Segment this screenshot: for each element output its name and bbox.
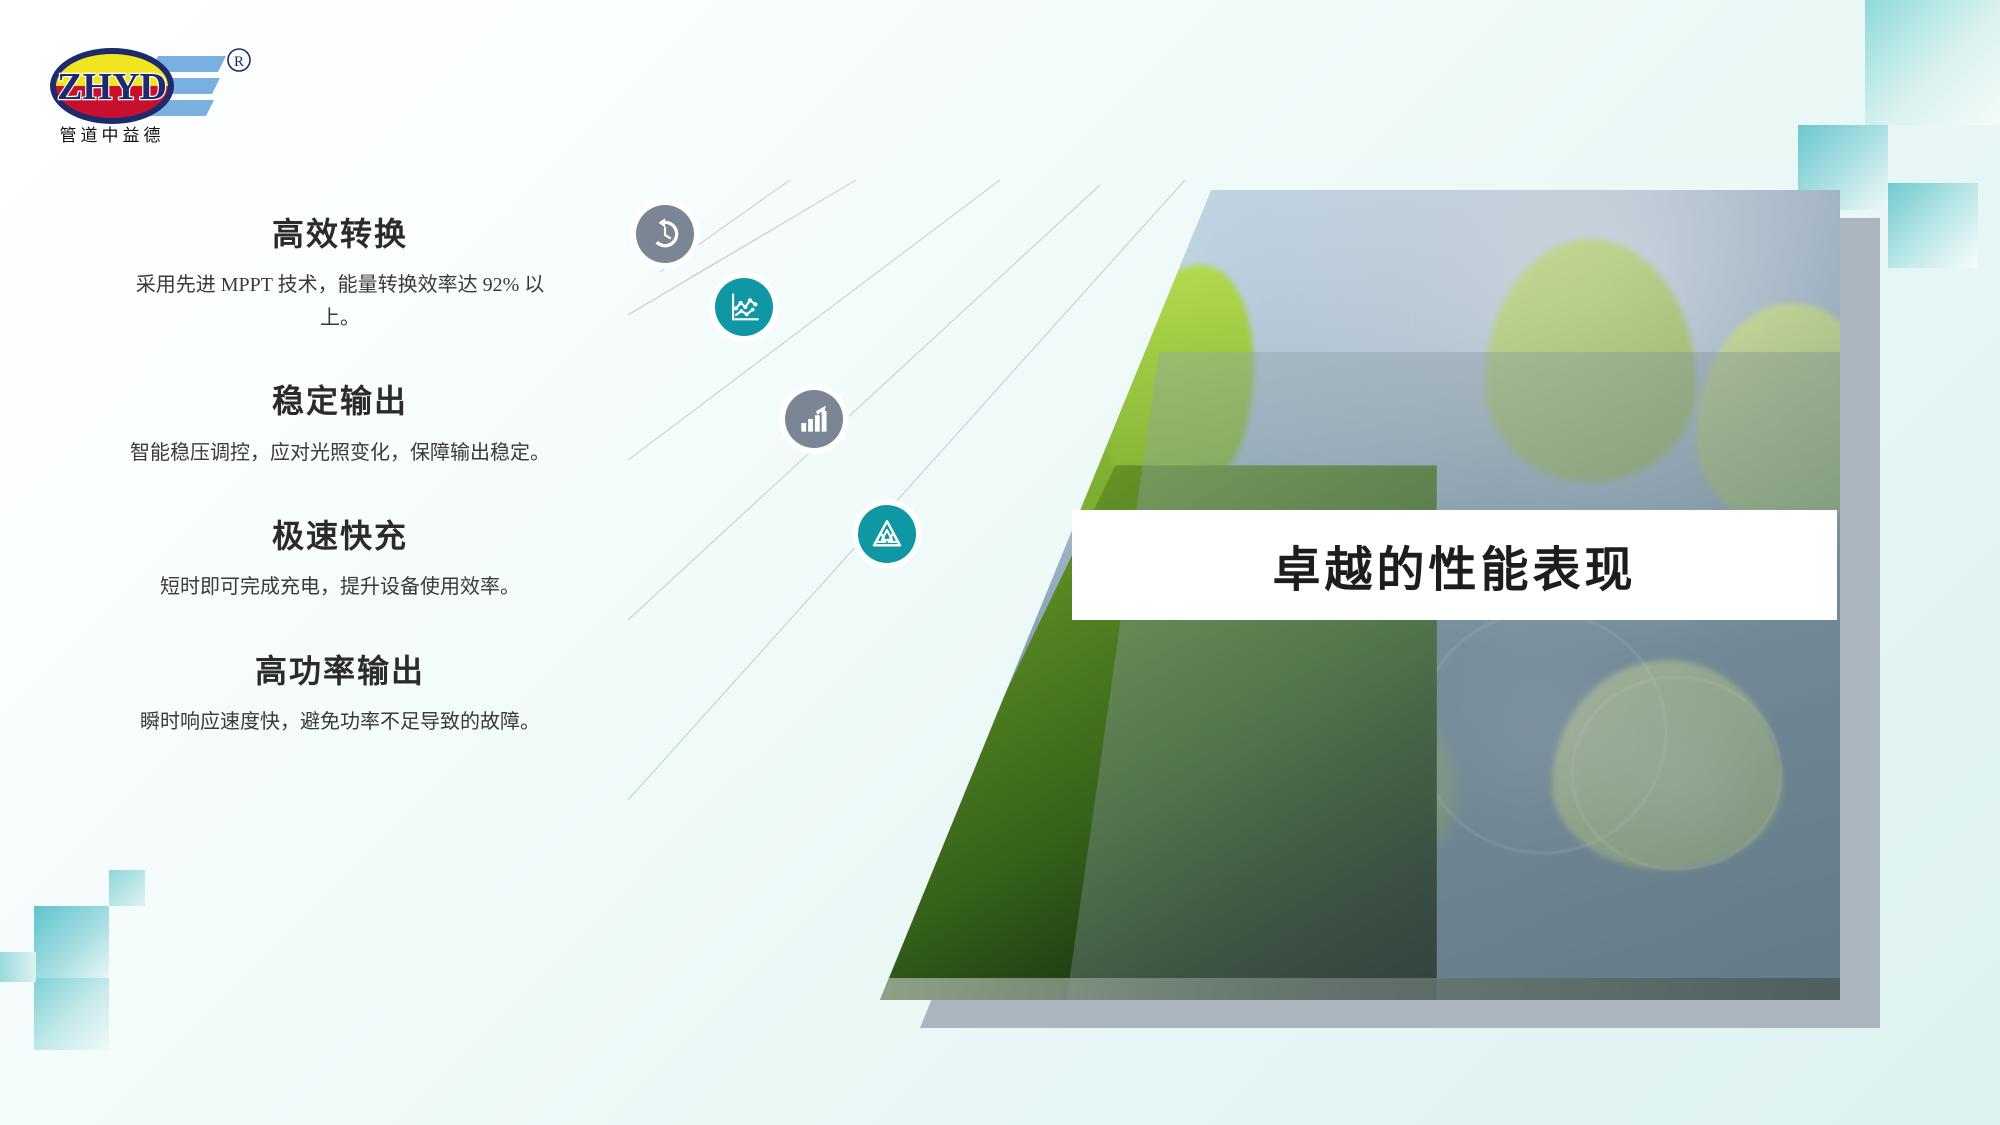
feature-description: 采用先进 MPPT 技术，能量转换效率达 92% 以上。 (120, 269, 560, 334)
feature-item: 高效转换 采用先进 MPPT 技术，能量转换效率达 92% 以上。 (120, 215, 560, 334)
deco-square-bottom-left-4 (109, 870, 145, 906)
badge-clock-rewind (636, 205, 694, 263)
feature-description: 短时即可完成充电，提升设备使用效率。 (120, 571, 560, 603)
photo-glass-overlay (1053, 352, 1840, 1000)
deco-square-bottom-left-3 (0, 952, 36, 982)
deco-square-bottom-left-2 (34, 906, 109, 978)
badge-bar-chart-growth (785, 390, 843, 448)
feature-description: 智能稳压调控，应对光照变化，保障输出稳定。 (120, 437, 560, 469)
feature-item: 稳定输出 智能稳压调控，应对光照变化，保障输出稳定。 (120, 382, 560, 469)
badge-line-chart (715, 278, 773, 336)
company-logo: ZHYD R 管道中益德 (40, 38, 260, 148)
feature-description: 瞬时响应速度快，避免功率不足导致的故障。 (120, 706, 560, 738)
clock-rewind-icon (649, 218, 681, 250)
feature-title: 稳定输出 (120, 382, 560, 420)
title-band: 卓越的性能表现 (1072, 510, 1837, 620)
bar-chart-growth-icon (798, 403, 830, 435)
deco-square-bottom-left-1 (34, 978, 109, 1050)
deco-square-top-right-1 (1865, 0, 2000, 125)
registered-mark-icon: R (228, 49, 250, 71)
feature-list: 高效转换 采用先进 MPPT 技术，能量转换效率达 92% 以上。 稳定输出 智… (120, 215, 560, 739)
feature-title: 高功率输出 (120, 652, 560, 690)
page-title: 卓越的性能表现 (1272, 530, 1636, 600)
feature-title: 极速快充 (120, 517, 560, 555)
logo-subtext: 管道中益德 (60, 126, 165, 145)
slide-canvas: ZHYD R 管道中益德 高效转换 采用先进 MPPT 技术，能量转换效率达 9… (0, 0, 2000, 1125)
feature-item: 高功率输出 瞬时响应速度快，避免功率不足导致的故障。 (120, 652, 560, 739)
photo-bottom-strip (880, 978, 1840, 1000)
logo-wordmark: ZHYD (57, 66, 167, 108)
zhyd-logo-icon: ZHYD R 管道中益德 (40, 38, 260, 148)
feature-item: 极速快充 短时即可完成充电，提升设备使用效率。 (120, 517, 560, 604)
line-chart-icon (728, 291, 760, 323)
feature-title: 高效转换 (120, 215, 560, 253)
svg-text:R: R (234, 54, 244, 70)
